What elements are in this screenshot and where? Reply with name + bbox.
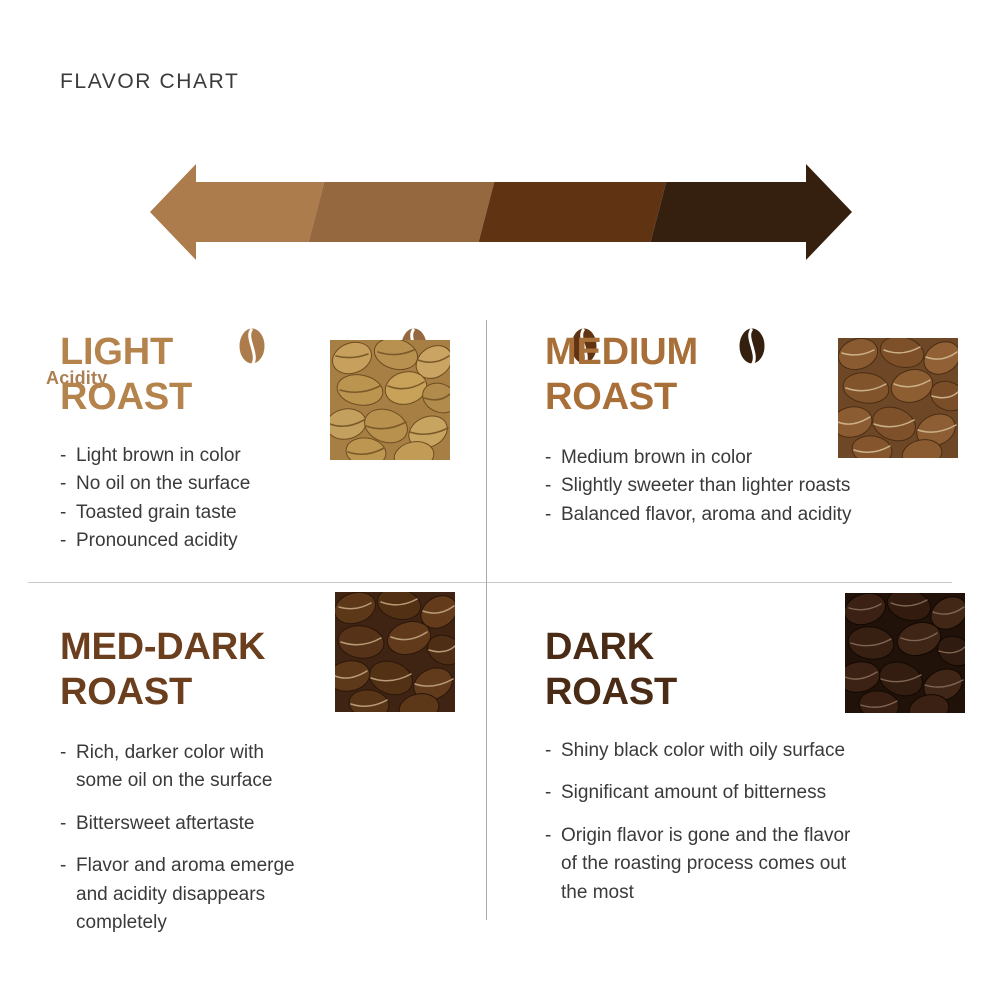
list-item: No oil on the surface [60,470,470,499]
list-item: Flavor and aroma emerge and acidity disa… [60,852,470,938]
medium-roast-title: MEDIUM ROAST [545,330,960,420]
med-dark-roast-title: MED-DARK ROAST [60,625,470,715]
list-item: Rich, darker color with some oil on the … [60,739,470,796]
list-item: Origin flavor is gone and the flavor of … [545,822,960,908]
vertical-divider [486,320,487,920]
med-dark-roast-bullet-list: Rich, darker color with some oil on the … [60,739,470,938]
list-item: Pronounced acidity [60,527,470,556]
dark-roast-bullet-list: Shiny black color with oily surface Sign… [545,737,960,908]
scale-band-dark [642,160,870,275]
roast-scale: Acidity Bitterness LIGHT MEDIUM MED-DARK… [0,160,1001,275]
list-item: Balanced flavor, aroma and acidity [545,501,960,530]
list-item: Shiny black color with oily surface [545,737,960,766]
list-item: Bittersweet aftertaste [60,810,470,839]
scale-band-medium [300,160,500,275]
scale-band-light [140,160,330,275]
dark-roast-title: DARK ROAST [545,625,960,715]
light-roast-title: LIGHT ROAST [60,330,470,420]
list-item: Significant amount of bitterness [545,779,960,808]
horizontal-divider [28,582,952,583]
list-item: Slightly sweeter than lighter roasts [545,472,960,501]
quadrant-dark-roast: DARK ROAST Shiny black color with oily s… [545,625,960,921]
roast-scale-arrow [0,160,1001,275]
scale-band-med-dark [470,160,672,275]
quadrant-med-dark-roast: MED-DARK ROAST Rich, darker color with s… [60,625,470,952]
page-title: FLAVOR CHART [60,70,239,94]
list-item: Toasted grain taste [60,499,470,528]
